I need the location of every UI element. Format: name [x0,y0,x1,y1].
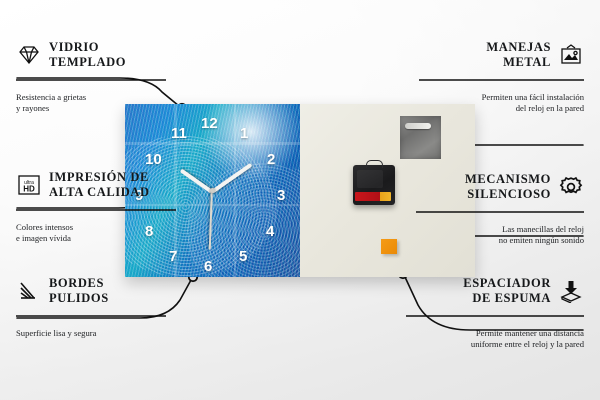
feature-header: VIDRIO TEMPLADO [16,40,166,70]
feature-title: MANEJAS METAL [486,40,551,70]
feature-title: BORDES PULIDOS [49,276,109,306]
clock-center-cap [210,188,215,193]
feature-description: Las manecillas del reloj no emiten ningú… [416,224,584,247]
clock-numeral-12: 12 [201,116,218,131]
movement-shade [357,170,383,188]
picture-frame-hanging-icon [558,43,584,67]
feature-description: Resistencia a grietas y rayones [16,92,166,115]
feature-mecanismo-silencioso: MECANISMO SILENCIOSO Las manecillas del … [416,172,584,247]
clock-numeral-6: 6 [204,259,212,274]
clock-numeral-11: 11 [171,126,187,141]
feature-title: IMPRESIÓN DE ALTA CALIDAD [49,170,150,200]
quartz-movement-box [353,165,395,205]
metal-hanger-plate [400,116,441,159]
polished-edges-icon [16,279,42,303]
feature-header: MANEJAS METAL [419,40,584,70]
feature-impresion-alta-calidad: ultra HD IMPRESIÓN DE ALTA CALIDAD Color… [16,170,176,245]
feature-title: VIDRIO TEMPLADO [49,40,126,70]
clock-numeral-10: 10 [145,152,162,167]
feature-title: MECANISMO SILENCIOSO [465,172,551,202]
feature-header: BORDES PULIDOS [16,276,166,306]
feature-underline [406,314,584,319]
feature-header: ESPACIADOR DE ESPUMA [406,276,584,306]
svg-text:HD: HD [23,184,35,193]
ultra-hd-icon: ultra HD [16,173,42,197]
infographic-canvas: 12 1 2 3 4 5 6 7 8 9 10 11 [0,0,600,400]
clock-numeral-5: 5 [239,249,247,264]
feature-description: Permite mantener una distancia uniforme … [406,328,584,351]
clock-numeral-4: 4 [266,224,274,239]
feature-underline [16,208,176,213]
feature-underline [419,78,584,83]
foam-spacer [381,239,397,254]
feature-underline [16,314,166,319]
feature-description: Superficie lisa y segura [16,328,166,340]
feature-description: Permiten una fácil instalación del reloj… [419,92,584,115]
hanger-keyhole-slot [405,123,430,129]
feature-bordes-pulidos: BORDES PULIDOS Superficie lisa y segura [16,276,166,339]
gear-icon [558,175,584,199]
battery-strip [355,192,391,201]
clock-numeral-1: 1 [240,126,248,141]
feature-header: MECANISMO SILENCIOSO [416,172,584,202]
feature-title: ESPACIADOR DE ESPUMA [463,276,551,306]
feature-underline [16,78,166,83]
feature-espaciador-espuma: ESPACIADOR DE ESPUMA Permite mantener un… [406,276,584,351]
clock-numeral-3: 3 [277,188,285,203]
diamond-icon [16,43,42,67]
feature-vidrio-templado: VIDRIO TEMPLADO Resistencia a grietas y … [16,40,166,115]
feature-manejas-metal: MANEJAS METAL Permiten una fácil instala… [419,40,584,115]
clock-numeral-7: 7 [169,249,177,264]
feature-description: Colores intensos e imagen vívida [16,222,176,245]
foam-spacer-arrow-icon [558,279,584,303]
movement-hook [366,160,383,168]
feature-header: ultra HD IMPRESIÓN DE ALTA CALIDAD [16,170,176,200]
feature-underline [416,210,584,215]
clock-numeral-2: 2 [267,152,275,167]
